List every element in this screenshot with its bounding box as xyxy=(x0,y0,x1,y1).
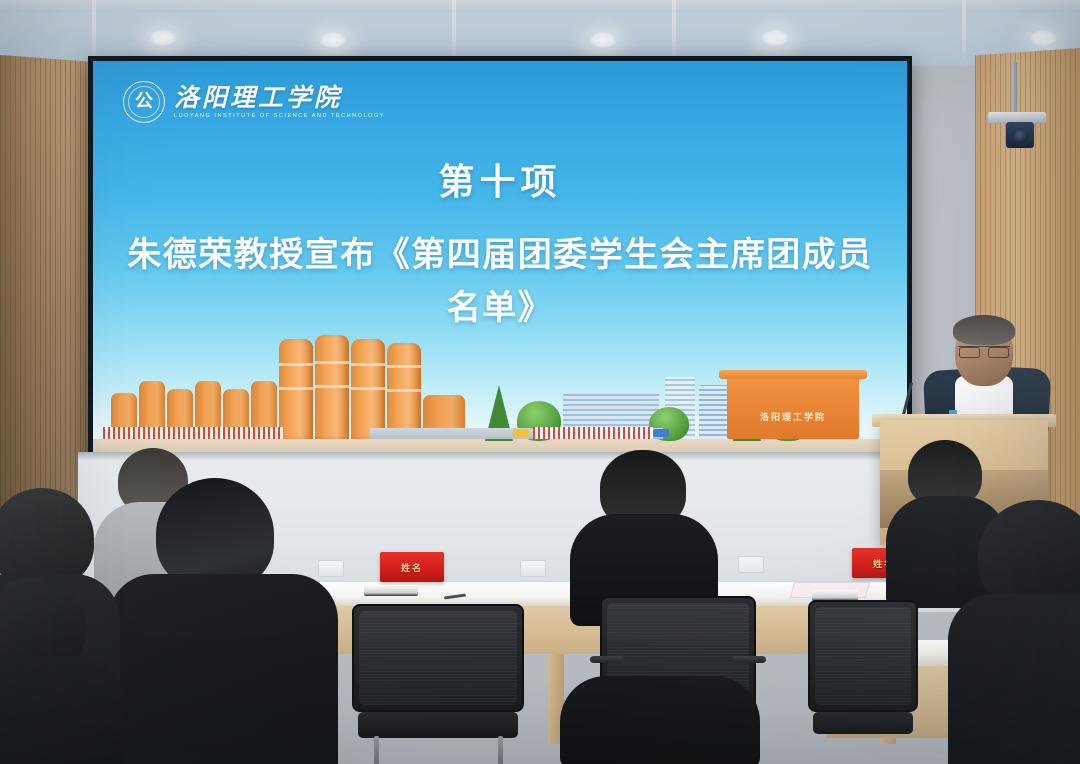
chair-post xyxy=(374,736,379,764)
campus-tower xyxy=(279,339,313,439)
glasses-icon xyxy=(958,346,1010,356)
gate-lintel xyxy=(719,370,867,379)
attendee-body xyxy=(108,574,338,764)
nameplate: 姓名 xyxy=(380,552,444,582)
slide-surface: 公 洛阳理工学院 LUOYANG INSTITUTE OF SCIENCE AN… xyxy=(93,61,907,455)
attendee-foreground xyxy=(560,676,760,764)
university-seal-icon: 公 xyxy=(123,81,165,123)
attendee-foreground xyxy=(962,500,1080,764)
presenter-hair xyxy=(953,315,1015,345)
campus-fence xyxy=(103,427,283,439)
ceiling-camera-icon xyxy=(1006,122,1034,148)
attendee-body xyxy=(560,676,760,764)
university-name-cn: 洛阳理工学院 xyxy=(174,85,385,111)
downlight-icon xyxy=(588,32,618,49)
downlight-icon xyxy=(318,32,348,49)
slide-title: 第十项 xyxy=(93,153,907,205)
chair[interactable] xyxy=(808,600,918,764)
tower-band xyxy=(351,387,385,390)
campus-tower xyxy=(351,339,385,439)
chair-mesh xyxy=(359,611,517,705)
attendee-head xyxy=(0,488,94,588)
ceiling-seam xyxy=(962,0,966,66)
back-wall-trim xyxy=(78,452,1008,460)
chair-armrest xyxy=(590,656,624,663)
downlight-icon xyxy=(760,30,790,47)
tower-band xyxy=(279,363,313,366)
chair-post xyxy=(498,736,503,764)
university-name-en: LUOYANG INSTITUTE OF SCIENCE AND TECHNOL… xyxy=(174,113,385,119)
nameplate-text: 姓名 xyxy=(401,561,423,574)
seal-glyph: 公 xyxy=(135,93,153,111)
conference-room-scene: 公 洛阳理工学院 LUOYANG INSTITUTE OF SCIENCE AN… xyxy=(0,0,1080,764)
camera-mount-pole xyxy=(1012,62,1017,114)
campus-tower xyxy=(315,335,349,439)
tower-band xyxy=(351,363,385,366)
downlight-icon xyxy=(1028,30,1058,47)
attendee-body xyxy=(0,656,124,764)
notebook[interactable] xyxy=(364,585,418,596)
campus-fence xyxy=(533,427,653,439)
ceiling-band xyxy=(0,0,1080,12)
campus-illustration: 洛阳理工学院 xyxy=(93,323,907,455)
chair-back xyxy=(808,600,918,712)
chair[interactable] xyxy=(352,604,524,764)
tower-band xyxy=(387,365,421,368)
attendee-body xyxy=(948,594,1080,764)
logo-text-block: 洛阳理工学院 LUOYANG INSTITUTE OF SCIENCE AND … xyxy=(174,85,385,119)
campus-vehicle xyxy=(513,429,529,437)
attendee xyxy=(570,450,718,610)
campus-tower xyxy=(387,343,421,439)
tower-band xyxy=(387,389,421,392)
chair-seat xyxy=(813,712,913,734)
university-logo: 公 洛阳理工学院 LUOYANG INSTITUTE OF SCIENCE AN… xyxy=(123,81,385,123)
tower-band xyxy=(279,387,313,390)
wall-socket[interactable] xyxy=(738,556,764,573)
campus-gate: 洛阳理工学院 xyxy=(727,377,859,439)
camera-lens-icon xyxy=(1014,130,1027,143)
campus-vehicle xyxy=(653,429,669,437)
tower-band xyxy=(315,385,349,388)
tower-band xyxy=(315,361,349,364)
gate-name-text: 洛阳理工学院 xyxy=(727,410,859,423)
chair-armrest xyxy=(732,656,766,663)
attendee-foreground xyxy=(0,578,116,764)
attendee-foreground xyxy=(108,478,338,764)
chair-back xyxy=(352,604,524,712)
slide-subtitle: 朱德荣教授宣布《第四届团委学生会主席团成员名单》 xyxy=(93,229,907,334)
chair-seat xyxy=(358,712,518,738)
downlight-icon xyxy=(148,30,178,47)
projection-screen[interactable]: 公 洛阳理工学院 LUOYANG INSTITUTE OF SCIENCE AN… xyxy=(88,56,912,460)
wall-socket[interactable] xyxy=(520,560,546,577)
chair-mesh xyxy=(815,607,911,705)
